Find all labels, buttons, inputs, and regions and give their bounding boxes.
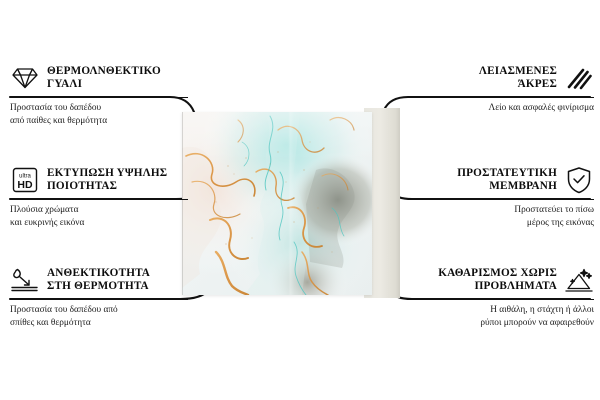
easy-clean-sparkle-icon	[564, 266, 594, 294]
feature-divider	[416, 199, 594, 200]
product-image	[182, 112, 400, 295]
feature-protective-membrane: ΠΡΟΣΤΑΤΕΥΤΙΚΗ ΜΕΜΒΡΑΝΗ Προστατεύει το πί…	[416, 164, 594, 229]
feature-title: ΛΕΙΑΣΜΕΝΕΣ ΆΚΡΕΣ	[416, 65, 557, 92]
feature-title: ΚΑΘΑΡΙΣΜΟΣ ΧΩΡΙΣ ΠΡΟΒΛΗΜΑΤΑ	[416, 267, 557, 294]
feature-description: Προστατεύει το πίσω μέρος της εικόνας	[416, 204, 594, 228]
svg-text:HD: HD	[17, 179, 33, 191]
feature-high-quality-print: ultra HD ΕΚΤΥΠΩΣΗ ΥΨΗΛΗΣ ΠΟΙΟΤΗΤΑΣ Πλούσ…	[10, 164, 188, 229]
feature-description: Λείο και ασφαλές φινίρισμα	[416, 102, 594, 114]
polished-edges-icon	[564, 64, 594, 92]
feature-description: Προστασία του δαπέδου από σπίθες και θερ…	[10, 304, 188, 328]
feature-description: Η αιθάλη, η στάχτη ή άλλοι ρύποι μπορούν…	[416, 304, 594, 328]
ultra-hd-icon: ultra HD	[10, 166, 40, 194]
feature-description: Πλούσια χρώματα και ευκρινής εικόνα	[10, 204, 188, 228]
feature-heat-durability: ΑΝΘΕΚΤΙΚΟΤΗΤΑ ΣΤΗ ΘΕΡΜΟΤΗΤΑ Προστασία το…	[10, 264, 188, 329]
feature-header: ΛΕΙΑΣΜΕΝΕΣ ΆΚΡΕΣ	[416, 62, 594, 94]
feature-header: ΘΕΡΜΟΛΝΘΕΚΤΙΚΟ ΓΥΑΛΙ	[10, 62, 188, 94]
feature-title: ΠΡΟΣΤΑΤΕΥΤΙΚΗ ΜΕΜΒΡΑΝΗ	[416, 167, 557, 194]
product-glass-panel	[182, 112, 372, 295]
feature-header: ΠΡΟΣΤΑΤΕΥΤΙΚΗ ΜΕΜΒΡΑΝΗ	[416, 164, 594, 196]
abstract-marble-artwork	[182, 112, 372, 295]
feature-polished-edges: ΛΕΙΑΣΜΕΝΕΣ ΆΚΡΕΣ Λείο και ασφαλές φινίρι…	[416, 62, 594, 115]
shield-check-icon	[564, 166, 594, 194]
feature-heat-resistant-glass: ΘΕΡΜΟΛΝΘΕΚΤΙΚΟ ΓΥΑΛΙ Προστασία του δαπέδ…	[10, 62, 188, 127]
diamond-icon	[10, 64, 40, 92]
feature-divider	[416, 97, 594, 98]
feature-title: ΘΕΡΜΟΛΝΘΕΚΤΙΚΟ ΓΥΑΛΙ	[47, 65, 188, 92]
heat-resistance-icon	[10, 266, 40, 294]
feature-title: ΕΚΤΥΠΩΣΗ ΥΨΗΛΗΣ ΠΟΙΟΤΗΤΑΣ	[47, 167, 188, 194]
feature-divider	[10, 199, 188, 200]
feature-header: ΚΑΘΑΡΙΣΜΟΣ ΧΩΡΙΣ ΠΡΟΒΛΗΜΑΤΑ	[416, 264, 594, 296]
feature-header: ΑΝΘΕΚΤΙΚΟΤΗΤΑ ΣΤΗ ΘΕΡΜΟΤΗΤΑ	[10, 264, 188, 296]
feature-description: Προστασία του δαπέδου από παίθες και θερ…	[10, 102, 188, 126]
feature-easy-cleaning: ΚΑΘΑΡΙΣΜΟΣ ΧΩΡΙΣ ΠΡΟΒΛΗΜΑΤΑ Η αιθάλη, η …	[416, 264, 594, 329]
feature-divider	[10, 299, 188, 300]
feature-header: ultra HD ΕΚΤΥΠΩΣΗ ΥΨΗΛΗΣ ΠΟΙΟΤΗΤΑΣ	[10, 164, 188, 196]
feature-divider	[10, 97, 188, 98]
feature-divider	[416, 299, 594, 300]
feature-title: ΑΝΘΕΚΤΙΚΟΤΗΤΑ ΣΤΗ ΘΕΡΜΟΤΗΤΑ	[47, 267, 188, 294]
